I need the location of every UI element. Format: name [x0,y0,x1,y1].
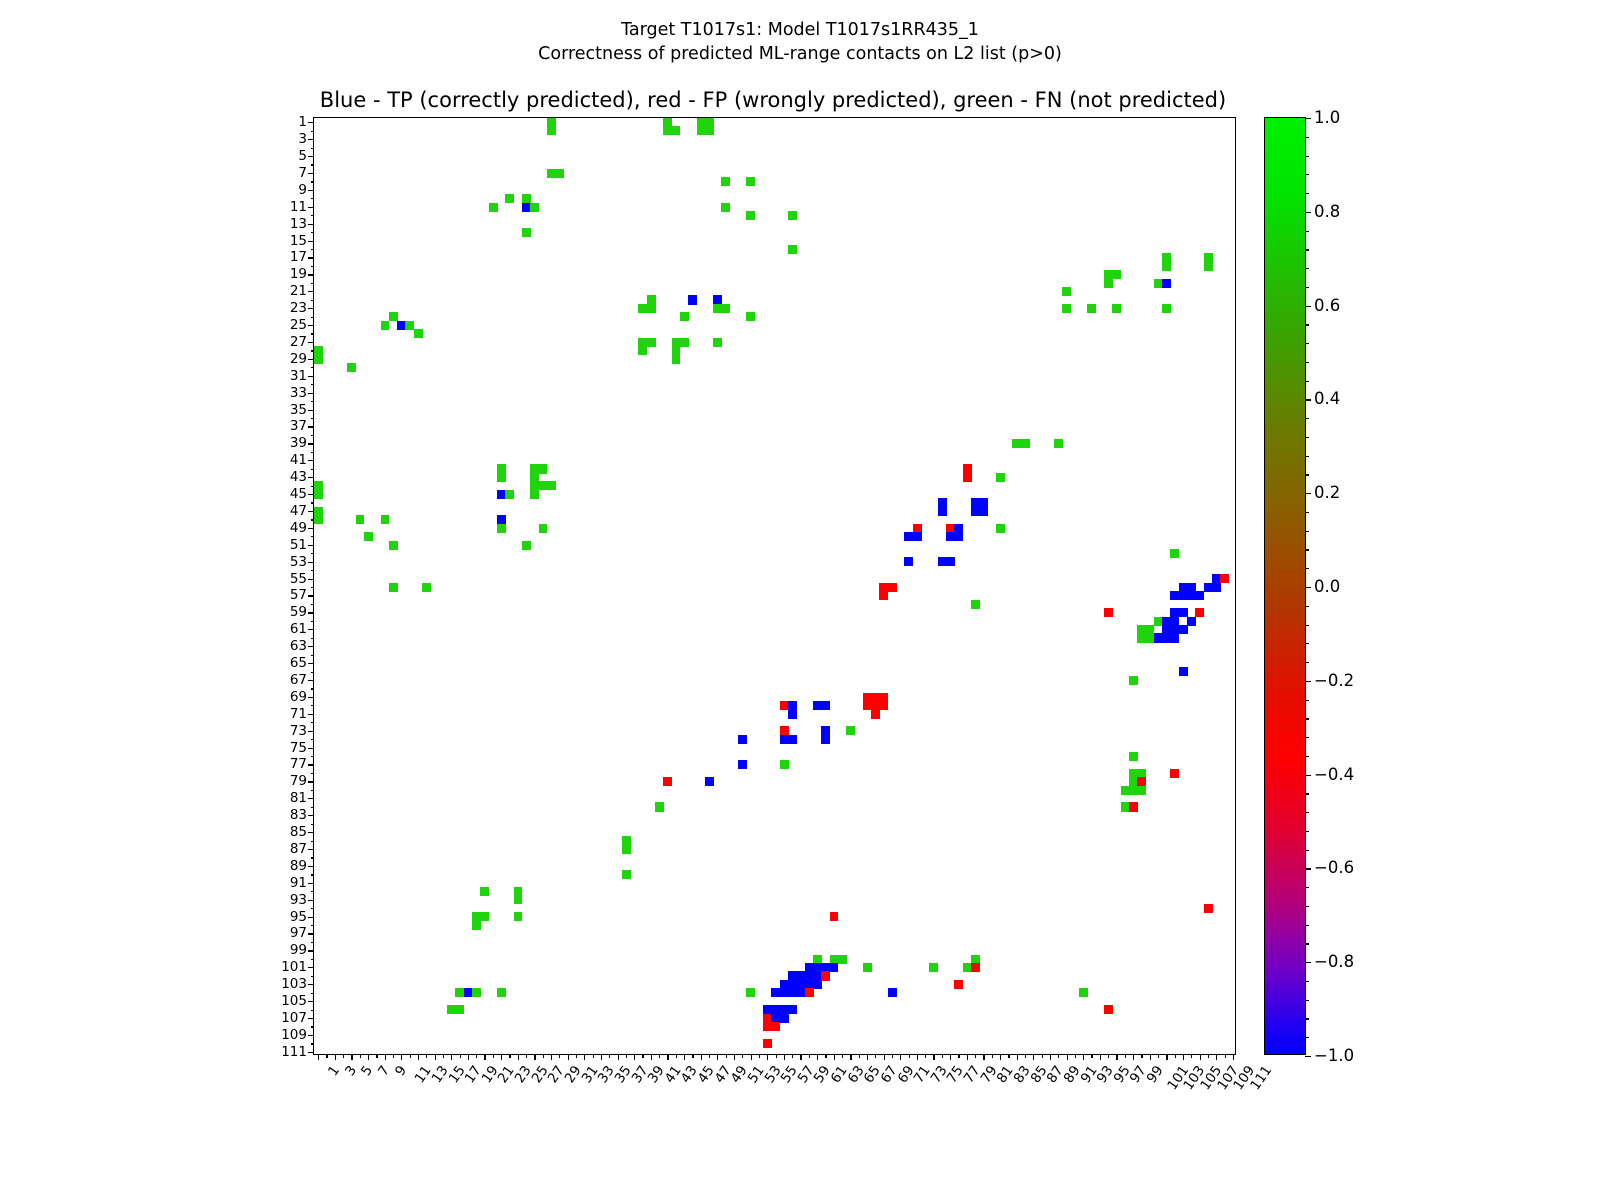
colorbar-minor-tick [1305,137,1309,138]
x-axis-tick-mark [834,1054,835,1060]
colorbar-minor-tick [1305,568,1309,569]
x-axis-tick-mark [501,1054,502,1060]
y-axis-tick-mark [311,384,315,385]
y-axis-tick-mark [311,824,315,825]
colorbar-minor-tick [1305,287,1309,288]
y-axis-tick-mark [311,925,315,926]
contact-cell [913,532,922,541]
x-axis-tick-mark [1075,1054,1076,1058]
contact-cell [1195,608,1204,617]
contact-cell [721,177,730,186]
contact-cell [721,304,730,313]
x-axis-tick-mark [1150,1054,1151,1060]
x-axis-tick-mark [884,1054,885,1060]
contact-cell [505,490,514,499]
contact-cell [788,1005,797,1014]
y-axis-tick-mark [311,333,315,334]
x-axis-tick-mark [559,1054,560,1058]
y-axis-tick-mark [311,672,315,673]
colorbar-minor-tick [1305,1000,1309,1001]
x-axis-tick-mark [983,1054,984,1060]
colorbar-minor-tick [1305,549,1309,550]
contact-cell [672,126,681,135]
x-axis-tick-mark [418,1054,419,1060]
y-axis-tick-mark [311,367,315,368]
x-axis-tick-mark [809,1054,810,1058]
contact-cell [1062,304,1071,313]
x-axis-tick-mark [1108,1054,1109,1058]
y-axis-tick-label: 109 [273,1030,314,1040]
contact-cell [1129,752,1138,761]
contact-cell [846,726,855,735]
x-axis-tick-mark [692,1054,693,1058]
contact-cell [971,963,980,972]
x-axis-tick-mark [551,1054,552,1060]
x-axis-tick-mark [701,1054,702,1060]
contact-cell [1104,279,1113,288]
contact-map-plot: 1133557799111113131515171719192121232325… [313,117,1236,1055]
contact-cell [1170,769,1179,778]
contact-cell [314,355,323,364]
x-axis-tick-mark [1091,1054,1092,1058]
contact-cell [522,541,531,550]
contact-cell [1162,262,1171,271]
contact-cell [1054,439,1063,448]
y-axis-tick-mark [311,317,315,318]
y-axis-tick-mark [311,486,315,487]
contact-cell [1212,583,1221,592]
y-axis-tick-mark [311,621,315,622]
contact-cell [830,912,839,921]
y-axis-tick-label: 95 [273,912,314,922]
x-axis-tick-mark [1133,1054,1134,1060]
contact-cell [1079,988,1088,997]
x-axis-tick-mark [401,1054,402,1060]
y-axis-tick-label: 23 [273,303,314,313]
colorbar: 1.00.80.60.40.20.0−0.2−0.4−0.6−0.8−1.0 [1264,117,1306,1055]
contact-cell [655,802,664,811]
y-axis-tick-label: 75 [273,743,314,753]
colorbar-tick-mark [1305,587,1311,588]
contact-cell [1179,625,1188,634]
x-axis-tick-label: 7 [377,1064,392,1078]
y-axis-tick-label: 13 [273,219,314,229]
y-axis-tick-label: 53 [273,557,314,567]
contact-cell [1137,786,1146,795]
contact-cell [1170,633,1179,642]
y-axis-tick-label: 61 [273,624,314,634]
contact-cell [497,988,506,997]
contact-cell [530,490,539,499]
x-axis-tick-mark [1083,1054,1084,1060]
colorbar-tick-label: 0.0 [1314,580,1340,594]
contact-cell [705,126,714,135]
contact-cell [1187,617,1196,626]
y-axis-tick-mark [311,1026,315,1027]
y-axis-tick-mark [311,655,315,656]
contact-cell [780,760,789,769]
y-axis-tick-label: 5 [273,151,314,161]
x-axis-tick-mark [850,1054,851,1060]
x-axis-tick-label: 5 [360,1064,375,1078]
colorbar-tick-label: 1.0 [1314,111,1340,125]
x-axis-tick-mark [634,1054,635,1060]
contact-cell [805,988,814,997]
colorbar-tick-label: −1.0 [1314,1049,1354,1063]
y-axis-tick-mark [311,131,315,132]
colorbar-minor-tick [1305,193,1309,194]
y-axis-tick-mark [311,232,315,233]
y-axis-tick-label: 67 [273,675,314,685]
y-axis-tick-mark [311,857,315,858]
colorbar-tick-mark [1305,962,1311,963]
x-axis-tick-mark [410,1054,411,1058]
contact-cell [1162,279,1171,288]
y-axis-tick-mark [311,638,315,639]
colorbar-minor-tick [1305,662,1309,663]
colorbar-tick-mark [1305,868,1311,869]
y-axis-tick-label: 21 [273,286,314,296]
contact-cell [514,895,523,904]
colorbar-tick-label: −0.6 [1314,861,1354,875]
colorbar-minor-tick [1305,906,1309,907]
colorbar-tick-mark [1305,399,1311,400]
x-axis-tick-mark [825,1054,826,1058]
y-axis-tick-mark [311,807,315,808]
contact-cell [680,338,689,347]
y-axis-tick-label: 63 [273,641,314,651]
contact-cell [480,887,489,896]
x-axis-tick-mark [676,1054,677,1058]
colorbar-tick-label: 0.2 [1314,486,1340,500]
contact-cell [738,735,747,744]
colorbar-minor-tick [1305,343,1309,344]
x-axis-tick-mark [601,1054,602,1060]
colorbar-minor-tick [1305,362,1309,363]
colorbar-minor-tick [1305,324,1309,325]
x-axis-tick-mark [684,1054,685,1060]
y-axis-tick-label: 27 [273,337,314,347]
contact-cell [996,524,1005,533]
y-axis-tick-mark [311,1010,315,1011]
y-axis-tick-label: 1 [273,117,314,127]
x-axis-tick-mark [393,1054,394,1058]
colorbar-tick-label: −0.2 [1314,674,1354,688]
contact-map-cells [314,118,1235,1054]
y-axis-tick-label: 55 [273,574,314,584]
contact-cell [763,1039,772,1048]
y-axis-tick-label: 45 [273,489,314,499]
contact-cell [1062,287,1071,296]
y-axis-tick-label: 47 [273,506,314,516]
contact-cell [780,1014,789,1023]
x-axis-tick-mark [1158,1054,1159,1058]
contact-cell [879,701,888,710]
x-axis-tick-mark [917,1054,918,1060]
contact-cell [938,507,947,516]
colorbar-tick-label: 0.4 [1314,392,1340,406]
x-axis-tick-mark [975,1054,976,1058]
colorbar-minor-tick [1305,812,1309,813]
colorbar-minor-tick [1305,831,1309,832]
x-axis-tick-mark [933,1054,934,1060]
x-axis-tick-mark [435,1054,436,1060]
contact-cell [505,194,514,203]
x-axis-tick-mark [534,1054,535,1060]
x-axis-tick-mark [950,1054,951,1060]
y-axis-tick-label: 99 [273,945,314,955]
contact-cell [863,963,872,972]
y-axis-tick-mark [311,739,315,740]
x-axis-tick-mark [1067,1054,1068,1060]
x-axis-tick-mark [1017,1054,1018,1060]
colorbar-minor-tick [1305,512,1309,513]
contact-cell [1129,676,1138,685]
contact-cell [389,583,398,592]
y-axis-tick-label: 89 [273,861,314,871]
contact-cell [680,312,689,321]
contact-cell [1104,608,1113,617]
x-axis-tick-mark [526,1054,527,1058]
contact-cell [979,507,988,516]
chart-title-line-1: Target T1017s1: Model T1017s1RR435_1 [0,18,1600,42]
contact-cell [381,515,390,524]
y-axis-tick-label: 17 [273,252,314,262]
colorbar-minor-tick [1305,474,1309,475]
x-axis-tick-mark [518,1054,519,1060]
y-axis-tick-mark [311,908,315,909]
colorbar-minor-tick [1305,793,1309,794]
y-axis-tick-label: 35 [273,405,314,415]
x-axis-tick-mark [443,1054,444,1058]
y-axis-tick-mark [311,266,315,267]
contact-cell [522,228,531,237]
x-axis-tick-mark [1183,1054,1184,1060]
x-axis-tick-mark [343,1054,344,1058]
y-axis-tick-mark [311,1043,315,1044]
contact-cell [622,845,631,854]
contact-cell [622,870,631,879]
x-axis-tick-mark [568,1054,569,1060]
colorbar-minor-tick [1305,156,1309,157]
y-axis-tick-mark [311,705,315,706]
y-axis-tick-label: 97 [273,928,314,938]
y-axis-tick-mark [311,587,315,588]
colorbar-minor-tick [1305,887,1309,888]
contact-cell [929,963,938,972]
x-axis-tick-mark [900,1054,901,1060]
x-axis-tick-mark [742,1054,743,1058]
colorbar-minor-tick [1305,775,1309,776]
y-axis-tick-label: 25 [273,320,314,330]
contact-cell [788,710,797,719]
y-axis-tick-label: 57 [273,590,314,600]
contact-cell [738,760,747,769]
x-axis-tick-mark [776,1054,777,1058]
y-axis-tick-mark [311,283,315,284]
x-axis-tick-mark [1033,1054,1034,1060]
colorbar-minor-tick [1305,231,1309,232]
x-axis-tick-mark [1225,1054,1226,1058]
contact-cell [771,1022,780,1031]
contact-cell [647,338,656,347]
chart-title-line-2: Correctness of predicted ML-range contac… [0,42,1600,66]
colorbar-minor-tick [1305,681,1309,682]
colorbar-minor-tick [1305,249,1309,250]
contact-cell [314,515,323,524]
contact-cell [821,971,830,980]
x-axis-tick-mark [892,1054,893,1058]
y-axis-tick-label: 101 [273,962,314,972]
x-axis-tick-mark [909,1054,910,1058]
x-axis-tick-mark [1125,1054,1126,1058]
y-axis-tick-label: 59 [273,607,314,617]
x-axis-tick-mark [1000,1054,1001,1060]
contact-cell [514,912,523,921]
x-axis-tick-mark [618,1054,619,1060]
contact-cell [663,777,672,786]
contact-cell [364,532,373,541]
contact-cell [746,211,755,220]
x-axis-tick-mark [958,1054,959,1058]
x-axis-tick-mark [751,1054,752,1060]
y-axis-tick-mark [311,874,315,875]
colorbar-tick-mark [1305,306,1311,307]
x-axis-tick-mark [360,1054,361,1058]
y-axis-tick-mark [311,756,315,757]
y-axis-tick-label: 83 [273,810,314,820]
contact-cell [547,126,556,135]
y-axis-tick-label: 79 [273,776,314,786]
x-axis-tick-mark [460,1054,461,1058]
x-axis-tick-mark [1025,1054,1026,1058]
x-axis-tick-mark [967,1054,968,1060]
x-axis-tick-mark [867,1054,868,1060]
x-axis-tick-mark [792,1054,793,1058]
contact-cell [314,490,323,499]
contact-cell [788,211,797,220]
y-axis-tick-mark [311,148,315,149]
y-axis-tick-mark [311,435,315,436]
colorbar-tick-mark [1305,1056,1311,1057]
y-axis-tick-mark [311,993,315,994]
x-axis-tick-mark [759,1054,760,1058]
y-axis-tick-label: 31 [273,371,314,381]
x-axis-tick-mark [1233,1054,1234,1060]
x-axis-tick-mark [651,1054,652,1060]
contact-cell [455,1005,464,1014]
y-axis-tick-label: 111 [273,1047,314,1057]
x-axis-tick-mark [1208,1054,1209,1058]
x-axis-tick-label: 1 [327,1064,342,1078]
y-axis-tick-mark [311,198,315,199]
x-axis-tick-mark [1050,1054,1051,1060]
x-axis-tick-mark [1141,1054,1142,1058]
x-axis-tick-mark [318,1054,319,1060]
colorbar-tick-label: −0.8 [1314,955,1354,969]
x-axis-tick-label: 3 [343,1064,358,1078]
y-axis-tick-mark [311,418,315,419]
contact-cell [1021,439,1030,448]
x-axis-tick-mark [734,1054,735,1060]
contact-cell [746,312,755,321]
x-axis-tick-mark [767,1054,768,1060]
colorbar-tick-label: 0.8 [1314,205,1340,219]
contact-cell [422,583,431,592]
y-axis-tick-mark [311,773,315,774]
y-axis-tick-mark [311,350,315,351]
contact-cell [1204,904,1213,913]
x-axis-tick-mark [875,1054,876,1058]
contact-cell [1195,591,1204,600]
contact-cell [497,473,506,482]
x-axis-tick-mark [385,1054,386,1060]
y-axis-tick-mark [311,570,315,571]
y-axis-tick-label: 3 [273,134,314,144]
y-axis-tick-label: 19 [273,269,314,279]
x-axis-tick-mark [925,1054,926,1058]
x-axis-tick-mark [1191,1054,1192,1058]
colorbar-minor-tick [1305,850,1309,851]
colorbar-tick-label: 0.6 [1314,299,1340,313]
y-axis-tick-label: 85 [273,827,314,837]
contact-cell [888,583,897,592]
contact-cell [821,701,830,710]
x-axis-tick-mark [1216,1054,1217,1060]
x-axis-tick-mark [509,1054,510,1058]
x-axis-tick-mark [476,1054,477,1058]
y-axis-tick-label: 65 [273,658,314,668]
x-axis-tick-mark [326,1054,327,1058]
colorbar-minor-tick [1305,174,1309,175]
y-axis-tick-mark [311,401,315,402]
y-axis-tick-label: 43 [273,472,314,482]
colorbar-minor-tick [1305,437,1309,438]
contact-cell [480,912,489,921]
y-axis-tick-mark [311,519,315,520]
y-axis-tick-label: 39 [273,438,314,448]
contact-cell [996,473,1005,482]
contact-cell [547,481,556,490]
y-axis-tick-mark [311,688,315,689]
contact-cell [347,363,356,372]
contact-cell [1162,304,1171,313]
y-axis-tick-mark [311,604,315,605]
colorbar-tick-mark [1305,212,1311,213]
contact-cell [688,295,697,304]
x-axis-tick-mark [817,1054,818,1060]
colorbar-minor-tick [1305,493,1309,494]
y-axis-tick-mark [311,959,315,960]
contact-cell [971,600,980,609]
y-axis-tick-label: 51 [273,540,314,550]
contact-cell [1170,549,1179,558]
x-axis-tick-mark [609,1054,610,1058]
contact-cell [1204,262,1213,271]
colorbar-tick-label: −0.4 [1314,768,1354,782]
x-axis-tick-mark [642,1054,643,1058]
y-axis-tick-label: 87 [273,844,314,854]
colorbar-minor-tick [1305,756,1309,757]
y-axis-tick-label: 29 [273,354,314,364]
x-axis-tick-label: 9 [393,1064,408,1078]
y-axis-tick-label: 91 [273,878,314,888]
y-axis-tick-label: 77 [273,759,314,769]
y-axis-tick-label: 33 [273,388,314,398]
contact-cell [1129,802,1138,811]
colorbar-minor-tick [1305,1018,1309,1019]
chart-title-block: Target T1017s1: Model T1017s1RR435_1 Cor… [0,18,1600,66]
